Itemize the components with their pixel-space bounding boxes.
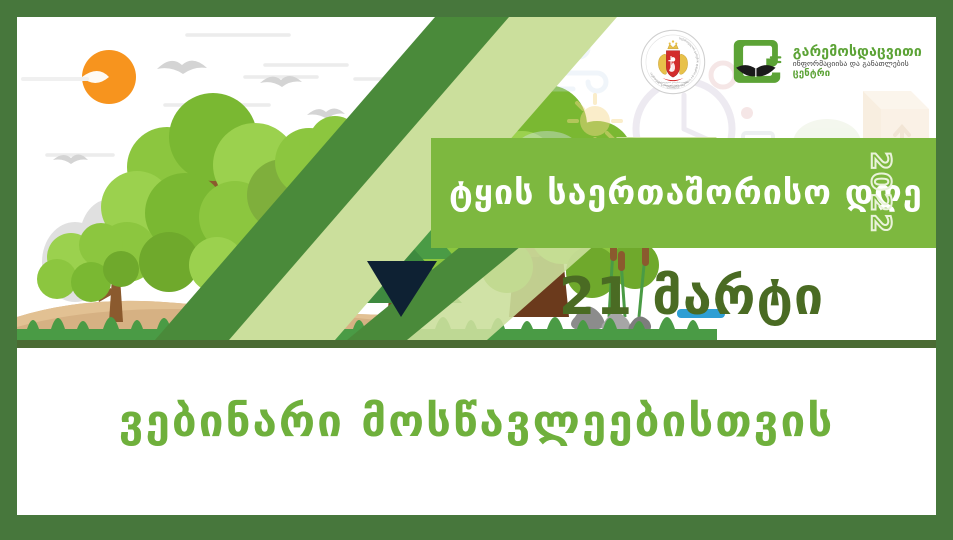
year-label: 2022 — [865, 151, 896, 234]
logo-row: საქართველოს გარემოს დაცვისა და სოფლის მე… — [640, 29, 922, 95]
event-date: 21 მარტი — [559, 271, 824, 323]
poster-root: ტყის საერთაშორისო დღე 2022 21 მარტი საქა… — [0, 0, 953, 540]
webinar-headline: ვებინარი მოსწავლეებისთვის — [119, 400, 835, 444]
date-container: 21 მარტი — [447, 257, 936, 337]
eiec-line1: გარემოსდაცვითი — [793, 45, 922, 60]
georgia-coat-of-arms-icon: საქართველოს გარემოს დაცვისა და სოფლის მე… — [640, 29, 706, 95]
page-title: ტყის საერთაშორისო დღე — [449, 176, 923, 210]
title-banner: ტყის საერთაშორისო დღე 2022 — [431, 138, 936, 248]
footer-panel: ვებინარი მოსწავლეებისთვის — [17, 348, 936, 515]
eiec-line2: ინფორმაციისა და განათლების — [793, 60, 922, 68]
svg-text:და სოფლის მეურნეობის: და სოფლის მეურნეობის — [661, 84, 685, 87]
section-separator — [17, 340, 936, 348]
svg-text:საქართველოს გარემოს დაცვისა: საქართველოს გარემოს დაცვისა — [657, 81, 689, 84]
eiec-logo: გარემოსდაცვითი ინფორმაციისა და განათლები… — [728, 33, 922, 91]
eiec-mark-icon — [728, 33, 786, 91]
svg-text:სამინისტრო: სამინისტრო — [667, 86, 679, 89]
illustration-panel: ტყის საერთაშორისო დღე 2022 21 მარტი საქა… — [17, 17, 936, 340]
eiec-line3: ცენტრი — [793, 69, 922, 79]
